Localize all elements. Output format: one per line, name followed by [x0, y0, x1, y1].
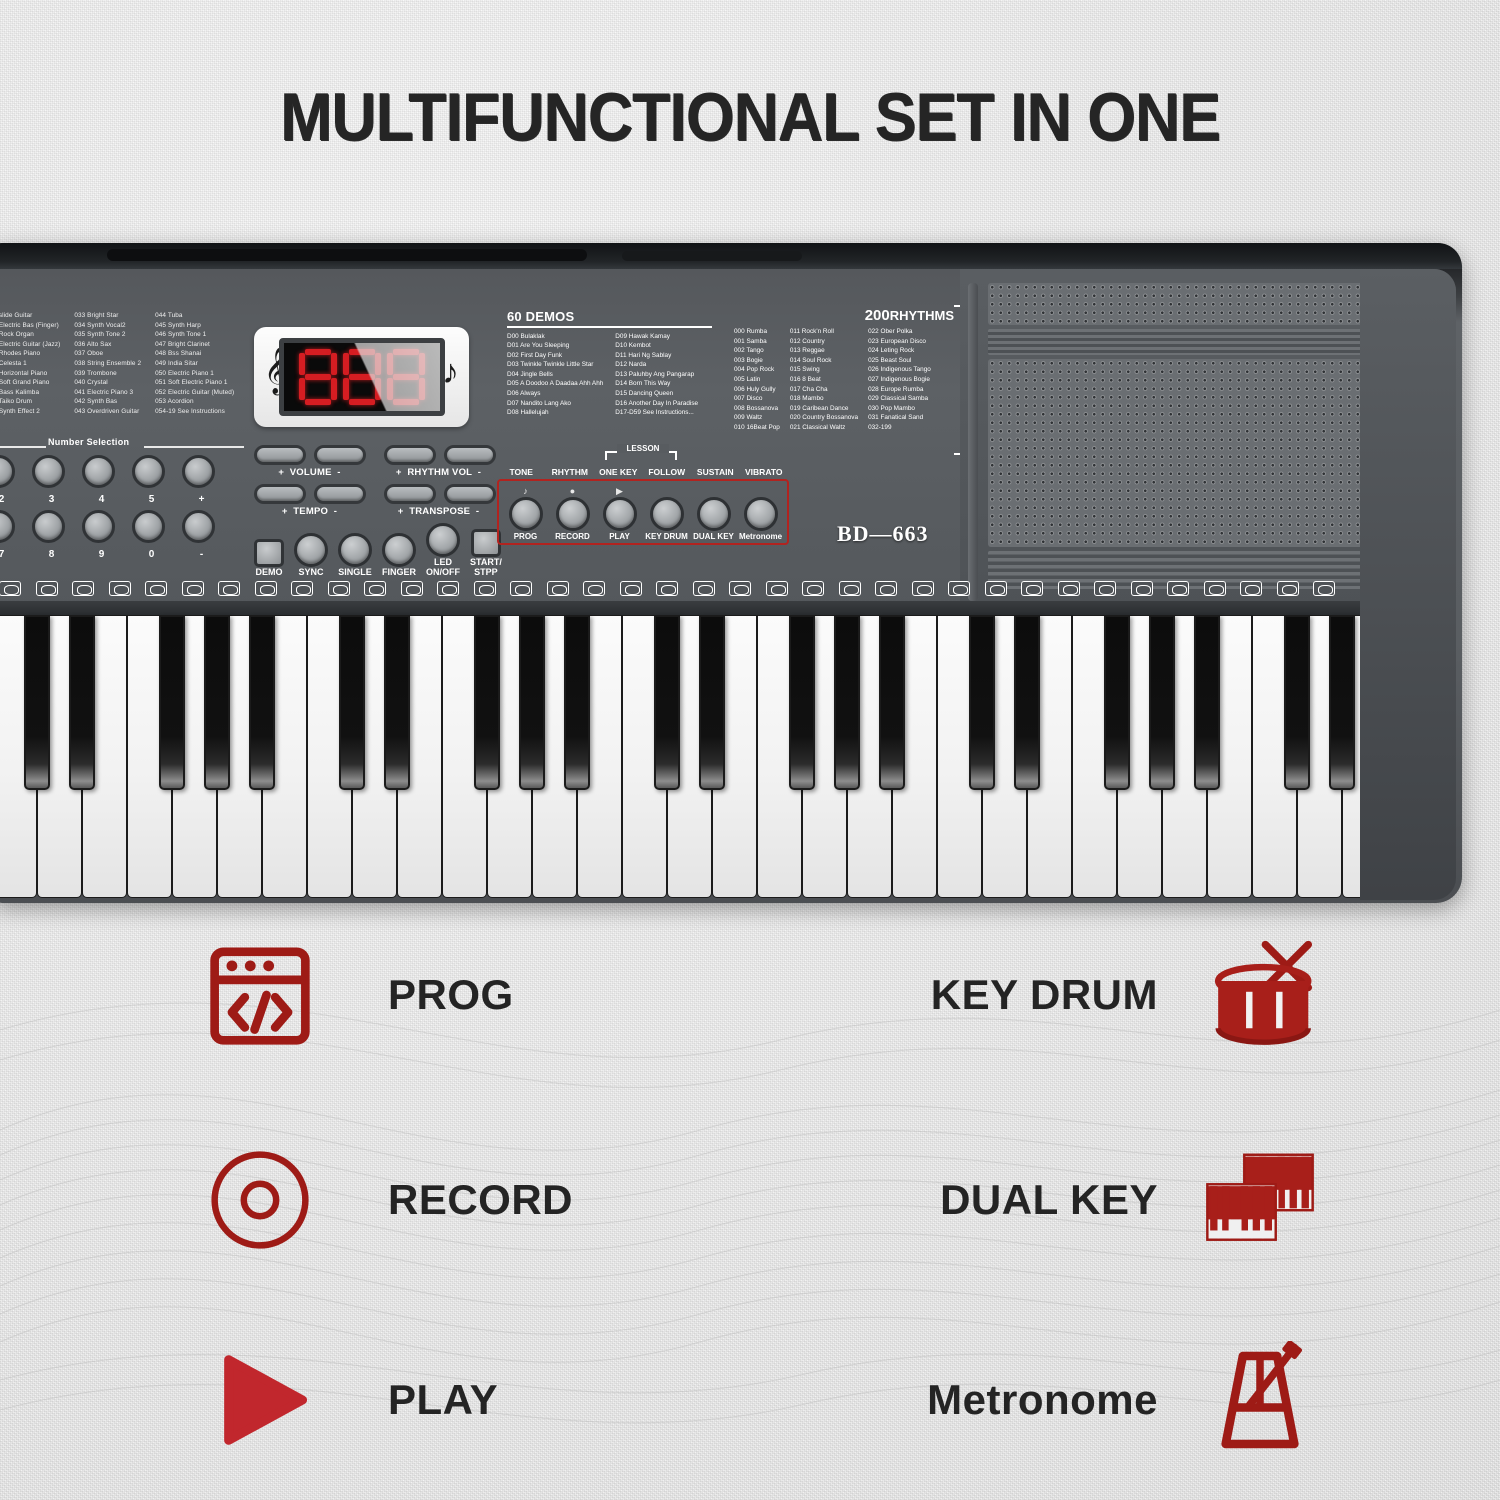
tone-item: 041 Electric Piano 3 — [74, 388, 141, 398]
demos-underline — [507, 326, 712, 328]
number-selection-rule-left — [0, 446, 46, 448]
rhythm-item: 008 Bossanova — [734, 404, 780, 414]
button-face — [254, 539, 284, 567]
lesson-top-labels: TONERHYTHMONE KEYFOLLOWSUSTAINVIBRATO — [497, 467, 789, 477]
tempo-label: + TEMPO - — [254, 506, 365, 517]
number-button-label: 2 — [0, 494, 18, 505]
rhythm-vol-minus-button[interactable] — [444, 445, 496, 465]
drum-glyph-icon — [145, 581, 167, 596]
drum-glyph-icon — [1240, 581, 1262, 596]
demo-item: D10 Kembot — [615, 341, 698, 351]
tone-item: 022 slide Guitar — [0, 311, 60, 321]
drum-glyph-icon — [620, 581, 642, 596]
number-button-7[interactable]: 7 — [0, 510, 15, 543]
demo-item: D13 Paluhby Ang Pangarap — [615, 370, 698, 380]
transpose-buttons — [384, 484, 496, 504]
rhythm-item: 002 Tango — [734, 346, 780, 356]
tone-item: 037 Oboe — [74, 349, 141, 359]
drum-glyph-icon — [1094, 581, 1116, 596]
black-key[interactable] — [1194, 615, 1220, 790]
screen-glare — [320, 338, 445, 416]
record-circle-icon — [200, 1140, 320, 1260]
speaker-rail — [968, 283, 978, 601]
percussion-badge — [29, 575, 66, 601]
rhythm-item: 032-199 — [868, 423, 931, 433]
demo-item: D01 Are You Sleeping — [507, 341, 603, 351]
number-button-label: + — [185, 494, 218, 505]
demo-item: D06 Always — [507, 389, 603, 399]
drum-glyph-icon — [948, 581, 970, 596]
percussion-badge — [686, 575, 723, 601]
percussion-badge — [722, 575, 759, 601]
transpose-minus-button[interactable] — [444, 484, 496, 504]
number-button-label: 5 — [135, 494, 168, 505]
number-button-9[interactable]: 9 — [82, 510, 115, 543]
button-face — [294, 533, 328, 567]
number-button-0[interactable]: 0 — [132, 510, 165, 543]
drum-glyph-icon — [583, 581, 605, 596]
percussion-badge-strip — [0, 575, 1362, 601]
drum-glyph-icon — [218, 581, 240, 596]
rhythm-item: 025 Beast Soul — [868, 356, 931, 366]
drum-glyph-icon — [510, 581, 532, 596]
lesson-bracket: LESSON — [605, 451, 677, 460]
demo-item: D11 Hari Ng Sablay — [615, 351, 698, 361]
lesson-buttons — [502, 497, 784, 531]
percussion-badge — [102, 575, 139, 601]
percussion-badge — [357, 575, 394, 601]
demo-item: D17-D59 See Instructions... — [615, 408, 698, 418]
tempo-plus-button[interactable] — [254, 484, 306, 504]
black-key[interactable] — [1104, 615, 1130, 790]
music-stand-slot-secondary — [622, 251, 802, 261]
demo-item: D08 Hallelujah — [507, 408, 603, 418]
drum-glyph-icon — [839, 581, 861, 596]
keyboard-product-image: 022 slide Guitar023 Electric Bas (Finger… — [0, 243, 1462, 903]
number-row-1: 2345+ — [0, 455, 244, 488]
eighth-note-icon: ♪ — [442, 355, 459, 389]
rhythm-item: 031 Fanatical Sand — [868, 413, 931, 423]
tone-item: 023 Electric Bas (Finger) — [0, 321, 60, 331]
drum-glyph-icon — [1277, 581, 1299, 596]
tempo-buttons — [254, 484, 366, 504]
number-button-8[interactable]: 8 — [32, 510, 65, 543]
percussion-badge — [1014, 575, 1051, 601]
black-key[interactable] — [699, 615, 725, 790]
black-key[interactable] — [1014, 615, 1040, 790]
drum-glyph-icon — [36, 581, 58, 596]
black-key[interactable] — [204, 615, 230, 790]
lesson-top-label: FOLLOW — [643, 467, 692, 477]
drum-glyph-icon — [0, 581, 21, 596]
feature-metronome: Metronome — [927, 1340, 1320, 1460]
rhythm-item: 023 European Disco — [868, 337, 931, 347]
feature-record: RECORD — [200, 1140, 573, 1260]
percussion-badge — [138, 575, 175, 601]
tone-item: 050 Electric Piano 1 — [155, 369, 234, 379]
percussion-badge — [394, 575, 431, 601]
drum-glyph-icon — [693, 581, 715, 596]
number-button-label: 7 — [0, 549, 18, 560]
black-key[interactable] — [1284, 615, 1310, 790]
percussion-badge — [795, 575, 832, 601]
number-button-5[interactable]: 5 — [132, 455, 165, 488]
number-selection-rule-right — [144, 446, 244, 448]
pill-row-top — [254, 445, 494, 465]
lesson-button-key-drum[interactable] — [650, 497, 684, 531]
tone-item: 026 Rhodes Piano — [0, 349, 60, 359]
pill-row-bottom — [254, 484, 494, 504]
drum-glyph-icon — [985, 581, 1007, 596]
lesson-icon-row: ♪●▶ — [502, 486, 784, 497]
black-key[interactable] — [159, 615, 185, 790]
demo-item: D15 Dancing Queen — [615, 389, 698, 399]
drum-glyph-icon — [912, 581, 934, 596]
tone-item: 025 Electric Guitar (Jazz) — [0, 340, 60, 350]
drum-glyph-icon — [875, 581, 897, 596]
rhythm-item: 006 Huly Gully — [734, 385, 780, 395]
lesson-top-label: VIBRATO — [740, 467, 789, 477]
tempo-minus-button[interactable] — [314, 484, 366, 504]
drum-glyph-icon — [766, 581, 788, 596]
number-button-plus[interactable]: + — [182, 455, 215, 488]
black-key[interactable] — [384, 615, 410, 790]
percussion-badge — [0, 575, 29, 601]
percussion-badge — [576, 575, 613, 601]
rhythm-item: 027 Indigenous Bogie — [868, 375, 931, 385]
percussion-badge — [211, 575, 248, 601]
rhythm-vol-plus-button[interactable] — [384, 445, 436, 465]
drum-glyph-icon — [1058, 581, 1080, 596]
number-button-minus[interactable]: - — [182, 510, 215, 543]
percussion-badge — [613, 575, 650, 601]
lesson-label: LESSON — [617, 444, 669, 453]
volume-plus-button[interactable] — [254, 445, 306, 465]
tone-item: 040 Crystal — [74, 378, 141, 388]
lesson-top-label: SUSTAIN — [691, 467, 740, 477]
button-face — [338, 533, 372, 567]
lesson-button-record[interactable] — [556, 497, 590, 531]
tone-item: 031 Taiko Drum — [0, 397, 60, 407]
percussion-badge — [1051, 575, 1088, 601]
rhythm-item: 022 Ober Polka — [868, 327, 931, 337]
percussion-badge — [978, 575, 1015, 601]
percussion-badge — [759, 575, 796, 601]
rhythm-item: 003 Bogie — [734, 356, 780, 366]
percussion-badge — [248, 575, 285, 601]
tone-item: 024 Rock Organ — [0, 330, 60, 340]
lesson-button-metronome[interactable] — [744, 497, 778, 531]
percussion-badge — [1160, 575, 1197, 601]
rhythm-item: 013 Reggae — [790, 346, 858, 356]
rhythm-item: 026 Indigenous Tango — [868, 365, 931, 375]
prog-window-icon — [200, 935, 320, 1055]
tone-item: 049 India Sitar — [155, 359, 234, 369]
percussion-badge — [905, 575, 942, 601]
demo-item: D03 Twinkle Twinkle Little Star — [507, 360, 603, 370]
demo-item: D14 Born This Way — [615, 379, 698, 389]
lesson-bottom-label: PROG — [502, 532, 549, 541]
rhythms-column-1: 000 Rumba001 Samba002 Tango003 Bogie004 … — [734, 327, 780, 433]
drum-glyph-icon — [291, 581, 313, 596]
piano-keys[interactable] — [0, 615, 1392, 900]
lesson-top-label: ONE KEY — [594, 467, 643, 477]
model-number: BD—663 — [837, 521, 929, 547]
black-key[interactable] — [519, 615, 545, 790]
black-key[interactable] — [969, 615, 995, 790]
black-key[interactable] — [879, 615, 905, 790]
rhythm-item: 000 Rumba — [734, 327, 780, 337]
black-key[interactable] — [1149, 615, 1175, 790]
demo-item: D02 First Day Funk — [507, 351, 603, 361]
lesson-bottom-label: RECORD — [549, 532, 596, 541]
demo-item: D07 Nandito Lang Ako — [507, 399, 603, 409]
lesson-bottom-label: PLAY — [596, 532, 643, 541]
lesson-bottom-label: DUAL KEY — [690, 532, 737, 541]
rhythm-item: 014 Soul Rock — [790, 356, 858, 366]
tone-item: 028 Horizontal Piano — [0, 369, 60, 379]
tone-item: 027 Celesta 1 — [0, 359, 60, 369]
tone-item: 038 String Ensemble 2 — [74, 359, 141, 369]
lesson-button-cell — [643, 497, 690, 531]
play-triangle-icon: ▶ — [596, 486, 643, 497]
drum-glyph-icon — [255, 581, 277, 596]
number-selection-pad[interactable]: 2345+ 7890- — [0, 455, 244, 549]
drum-glyph-icon — [437, 581, 459, 596]
black-key[interactable] — [1329, 615, 1355, 790]
number-button-label: - — [185, 549, 218, 560]
feature-play: PLAY — [200, 1340, 498, 1460]
number-button-label: 8 — [35, 549, 68, 560]
black-key[interactable] — [24, 615, 50, 790]
tone-item: 042 Synth Bas — [74, 397, 141, 407]
snare-drum-icon — [1200, 935, 1320, 1055]
drum-glyph-icon — [109, 581, 131, 596]
led-display-bezel: 𝄞 ♪ — [254, 327, 469, 427]
percussion-badge — [503, 575, 540, 601]
percussion-badge — [1233, 575, 1270, 601]
drum-glyph-icon — [182, 581, 204, 596]
function-button-label: LED ON/OFF — [426, 557, 460, 577]
demo-item: D05 A Doodoo A Daadaa Ahh Ahh — [507, 379, 603, 389]
rhythm-list: 200RHYTHMS 000 Rumba001 Samba002 Tango00… — [734, 309, 964, 433]
demo-item: D04 Jingle Bells — [507, 370, 603, 380]
rhythms-column-2: 011 Rock'n Roll012 Country013 Reggae014 … — [790, 327, 858, 433]
volume-buttons — [254, 445, 366, 465]
button-face — [382, 533, 416, 567]
tone-list: 022 slide Guitar023 Electric Bas (Finger… — [0, 311, 242, 431]
percussion-badge — [832, 575, 869, 601]
tone-column-2: 033 Bright Star034 Synth Vocal2035 Synth… — [74, 311, 141, 431]
led-digit-2 — [343, 349, 381, 405]
function-button-sync[interactable]: SYNC — [294, 533, 328, 577]
demo-song-list: 60 DEMOS D00 BulaklakD01 Are You Sleepin… — [507, 309, 747, 418]
rhythm-item: 009 Waltz — [734, 413, 780, 423]
black-key[interactable] — [564, 615, 590, 790]
rhythm-item: 024 Leting Rock — [868, 346, 931, 356]
rhythm-item: 017 Cha Cha — [790, 385, 858, 395]
function-button-single[interactable]: SINGLE — [338, 533, 372, 577]
drum-glyph-icon — [364, 581, 386, 596]
drum-glyph-icon — [1167, 581, 1189, 596]
feature-label: DUAL KEY — [940, 1176, 1158, 1224]
percussion-badge — [65, 575, 102, 601]
tone-column-1: 022 slide Guitar023 Electric Bas (Finger… — [0, 311, 60, 431]
number-button-label: 3 — [35, 494, 68, 505]
lesson-button-cell — [596, 497, 643, 531]
number-button-3[interactable]: 3 — [32, 455, 65, 488]
tempo-label-row: + TEMPO - + TRANSPOSE - — [254, 506, 494, 517]
lesson-button-play[interactable] — [603, 497, 637, 531]
transpose-label: + TRANSPOSE - — [383, 506, 494, 517]
rhythm-item: 030 Pop Mambo — [868, 404, 931, 414]
black-key[interactable] — [339, 615, 365, 790]
feature-label: PLAY — [388, 1376, 498, 1424]
percussion-badge — [467, 575, 504, 601]
percussion-badge — [321, 575, 358, 601]
lesson-button-cell — [737, 497, 784, 531]
function-button-finger[interactable]: FINGER — [382, 533, 416, 577]
drum-glyph-icon — [547, 581, 569, 596]
function-button-row: DEMOSYNCSINGLEFINGERLED ON/OFFSTART/ STP… — [254, 523, 494, 577]
rhythm-vol-label: + RHYTHM VOL - — [383, 467, 494, 478]
tone-item: 034 Synth Vocal2 — [74, 321, 141, 331]
transpose-plus-button[interactable] — [384, 484, 436, 504]
center-controls[interactable]: + VOLUME - + RHYTHM VOL - + TEMPO - + TR… — [254, 445, 494, 577]
tone-item: 043 Overdriven Guitar — [74, 407, 141, 417]
percussion-badge — [1306, 575, 1343, 601]
button-face — [426, 523, 460, 557]
tone-item: 033 Bright Star — [74, 311, 141, 321]
drum-glyph-icon — [802, 581, 824, 596]
tone-item: 029 Soft Grand Piano — [0, 378, 60, 388]
feature-prog: PROG — [200, 935, 514, 1055]
rhythm-item: 020 Country Bossanova — [790, 413, 858, 423]
tone-column-3: 044 Tuba045 Synth Harp046 Synth Tone 104… — [155, 311, 234, 431]
feature-label: PROG — [388, 971, 514, 1019]
percussion-badge — [540, 575, 577, 601]
rhythm-item: 004 Pop Rock — [734, 365, 780, 375]
rhythm-item: 015 Swing — [790, 365, 858, 375]
rhythm-item: 021 Classical Waltz — [790, 423, 858, 433]
lesson-top-label: TONE — [497, 467, 546, 477]
tone-item: 039 Trombone — [74, 369, 141, 379]
lesson-button-prog[interactable] — [509, 497, 543, 531]
percussion-badge — [649, 575, 686, 601]
function-button-demo[interactable]: DEMO — [254, 539, 284, 577]
tone-item: 053 Acordion — [155, 397, 234, 407]
number-button-label: 4 — [85, 494, 118, 505]
demo-item: D09 Hawak Kamay — [615, 332, 698, 342]
demo-item: D00 Bulaklak — [507, 332, 603, 342]
rhythm-item: 007 Disco — [734, 394, 780, 404]
rhythm-item: 029 Classical Samba — [868, 394, 931, 404]
keybed-shelf — [0, 601, 1362, 615]
lesson-bottom-labels: PROGRECORDPLAYKEY DRUMDUAL KEYMetronome — [502, 532, 784, 541]
music-stand-slot — [107, 249, 587, 261]
tone-item: 047 Bright Clarinet — [155, 340, 234, 350]
black-key[interactable] — [834, 615, 860, 790]
tone-item: 052 Electric Guitar (Muted) — [155, 388, 234, 398]
lesson-button-cell — [502, 497, 549, 531]
rhythm-item: 018 Mambo — [790, 394, 858, 404]
demo-item: D12 Narda — [615, 360, 698, 370]
number-button-4[interactable]: 4 — [82, 455, 115, 488]
keyboard-right-cap — [1360, 269, 1456, 900]
led-display-screen — [279, 338, 445, 416]
feature-label: Metronome — [927, 1376, 1158, 1424]
percussion-badge — [941, 575, 978, 601]
tone-item: 032 Synth Effect 2 — [0, 407, 60, 417]
number-button-2[interactable]: 2 — [0, 455, 15, 488]
feature-label: KEY DRUM — [931, 971, 1158, 1019]
dual-keyboard-icon — [1200, 1140, 1320, 1260]
rhythm-item: 001 Samba — [734, 337, 780, 347]
tone-item: 046 Synth Tone 1 — [155, 330, 234, 340]
rhythm-vol-buttons — [384, 445, 496, 465]
drum-glyph-icon — [729, 581, 751, 596]
record-dot-icon: ● — [549, 486, 596, 497]
function-button-led-on-off[interactable]: LED ON/OFF — [426, 523, 460, 577]
tone-item: 054-19 See Instructions — [155, 407, 234, 417]
black-key[interactable] — [474, 615, 500, 790]
rhythm-item: 010 16Beat Pop — [734, 423, 780, 433]
drum-glyph-icon — [474, 581, 496, 596]
lesson-icon-empty — [690, 486, 737, 497]
rhythm-item: 016 8 Beat — [790, 375, 858, 385]
tone-item: 035 Synth Tone 2 — [74, 330, 141, 340]
page-title: MULTIFUNCTIONAL SET IN ONE — [60, 78, 1440, 156]
lesson-button-group[interactable]: LESSON TONERHYTHMONE KEYFOLLOWSUSTAINVIB… — [497, 467, 789, 545]
led-digit-3 — [387, 349, 425, 405]
number-row-2: 7890- — [0, 510, 244, 543]
lesson-icon-empty — [643, 486, 690, 497]
tone-item: 045 Synth Harp — [155, 321, 234, 331]
metronome-icon — [1200, 1340, 1320, 1460]
highlight-box: ♪●▶ PROGRECORDPLAYKEY DRUMDUAL KEYMetron… — [497, 479, 789, 545]
percussion-badge — [430, 575, 467, 601]
volume-label-row: + VOLUME - + RHYTHM VOL - — [254, 467, 494, 478]
drum-glyph-icon — [328, 581, 350, 596]
percussion-badge — [1124, 575, 1161, 601]
black-key[interactable] — [249, 615, 275, 790]
drum-glyph-icon — [401, 581, 423, 596]
demo-item: D16 Another Day In Paradise — [615, 399, 698, 409]
number-button-label: 0 — [135, 549, 168, 560]
percussion-badge — [175, 575, 212, 601]
lesson-bottom-label: KEY DRUM — [643, 532, 690, 541]
volume-minus-button[interactable] — [314, 445, 366, 465]
percussion-badge — [1197, 575, 1234, 601]
feature-list: PROG RECORD PLAY KEY DRUM — [0, 915, 1500, 1485]
black-key[interactable] — [69, 615, 95, 790]
black-key[interactable] — [654, 615, 680, 790]
prog-glyph-icon: ♪ — [502, 486, 549, 497]
lesson-button-cell — [549, 497, 596, 531]
play-triangle-icon — [200, 1340, 320, 1460]
tone-item: 036 Alto Sax — [74, 340, 141, 350]
rhythm-item: 012 Country — [790, 337, 858, 347]
drum-glyph-icon — [656, 581, 678, 596]
number-button-label: 9 — [85, 549, 118, 560]
lesson-button-dual-key[interactable] — [697, 497, 731, 531]
rhythm-item: 019 Caribean Dance — [790, 404, 858, 414]
feature-dual-key: DUAL KEY — [940, 1140, 1320, 1260]
black-key[interactable] — [789, 615, 815, 790]
rhythm-item: 011 Rock'n Roll — [790, 327, 858, 337]
control-panel: 022 slide Guitar023 Electric Bas (Finger… — [0, 269, 967, 614]
percussion-badge — [868, 575, 905, 601]
